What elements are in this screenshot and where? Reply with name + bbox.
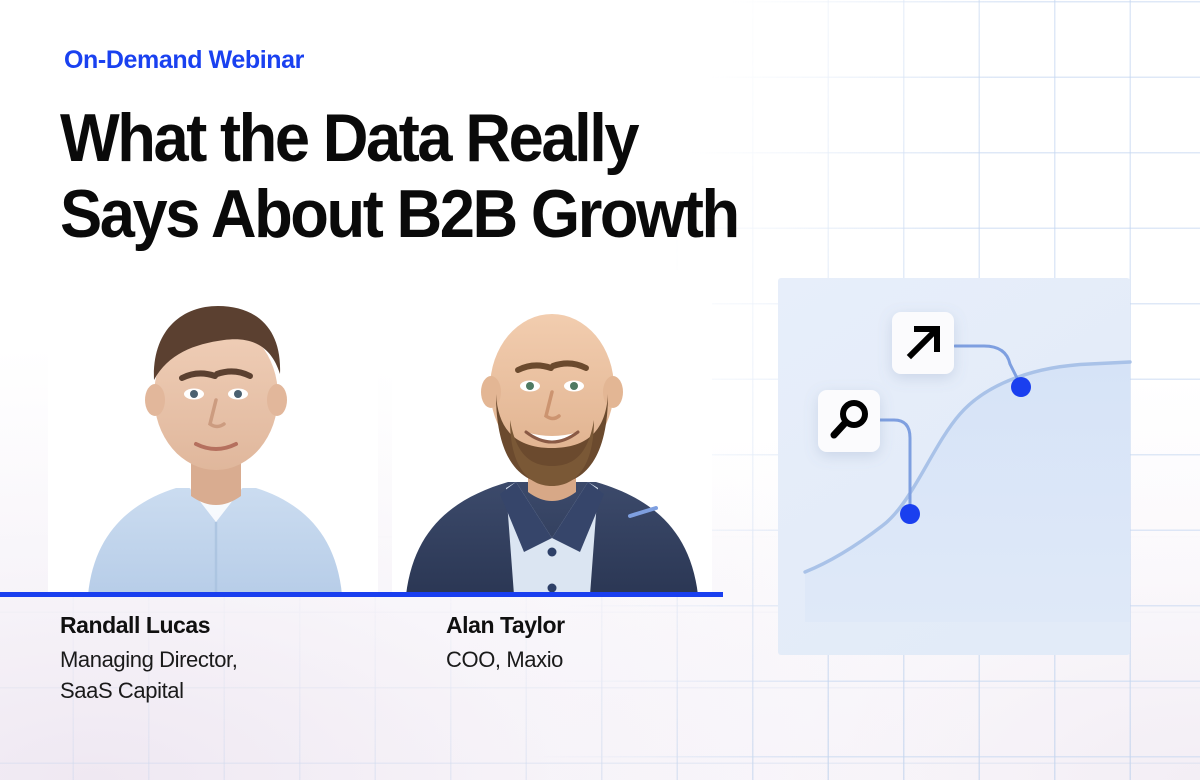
chart-svg bbox=[770, 268, 1150, 668]
speaker-block-alan-taylor: Alan Taylor COO, Maxio bbox=[446, 612, 565, 675]
headline-line-1: What the Data Really bbox=[60, 100, 767, 176]
accent-divider bbox=[0, 592, 723, 597]
upper-data-point[interactable] bbox=[1011, 377, 1031, 397]
page-title: What the Data Really Says About B2B Grow… bbox=[60, 100, 767, 252]
speaker-name: Alan Taylor bbox=[446, 612, 565, 639]
speaker-role: COO, Maxio bbox=[446, 644, 565, 675]
speaker-role: Managing Director, SaaS Capital bbox=[60, 644, 237, 706]
annotation-card-growth-trend[interactable] bbox=[892, 312, 954, 374]
avatar bbox=[392, 270, 712, 595]
speaker-photos bbox=[0, 270, 760, 595]
headline-line-2: Says About B2B Growth bbox=[60, 176, 767, 252]
avatar bbox=[48, 270, 378, 595]
growth-chart-graphic bbox=[770, 268, 1150, 668]
speaker-photo-alan-taylor bbox=[392, 270, 712, 595]
lower-data-point[interactable] bbox=[900, 504, 920, 524]
webinar-promo-card: On-Demand Webinar What the Data Really S… bbox=[0, 0, 1200, 780]
annotation-card-insight-search[interactable] bbox=[818, 390, 880, 452]
speaker-photo-randall-lucas bbox=[48, 270, 378, 595]
speaker-role-line-1: Managing Director, bbox=[60, 644, 237, 675]
speaker-block-randall-lucas: Randall Lucas Managing Director, SaaS Ca… bbox=[60, 612, 237, 706]
speaker-captions: Randall Lucas Managing Director, SaaS Ca… bbox=[0, 612, 760, 752]
speaker-role-line-1: COO, Maxio bbox=[446, 644, 565, 675]
eyebrow-label: On-Demand Webinar bbox=[64, 46, 304, 75]
speaker-name: Randall Lucas bbox=[60, 612, 237, 639]
speaker-role-line-2: SaaS Capital bbox=[60, 675, 237, 706]
